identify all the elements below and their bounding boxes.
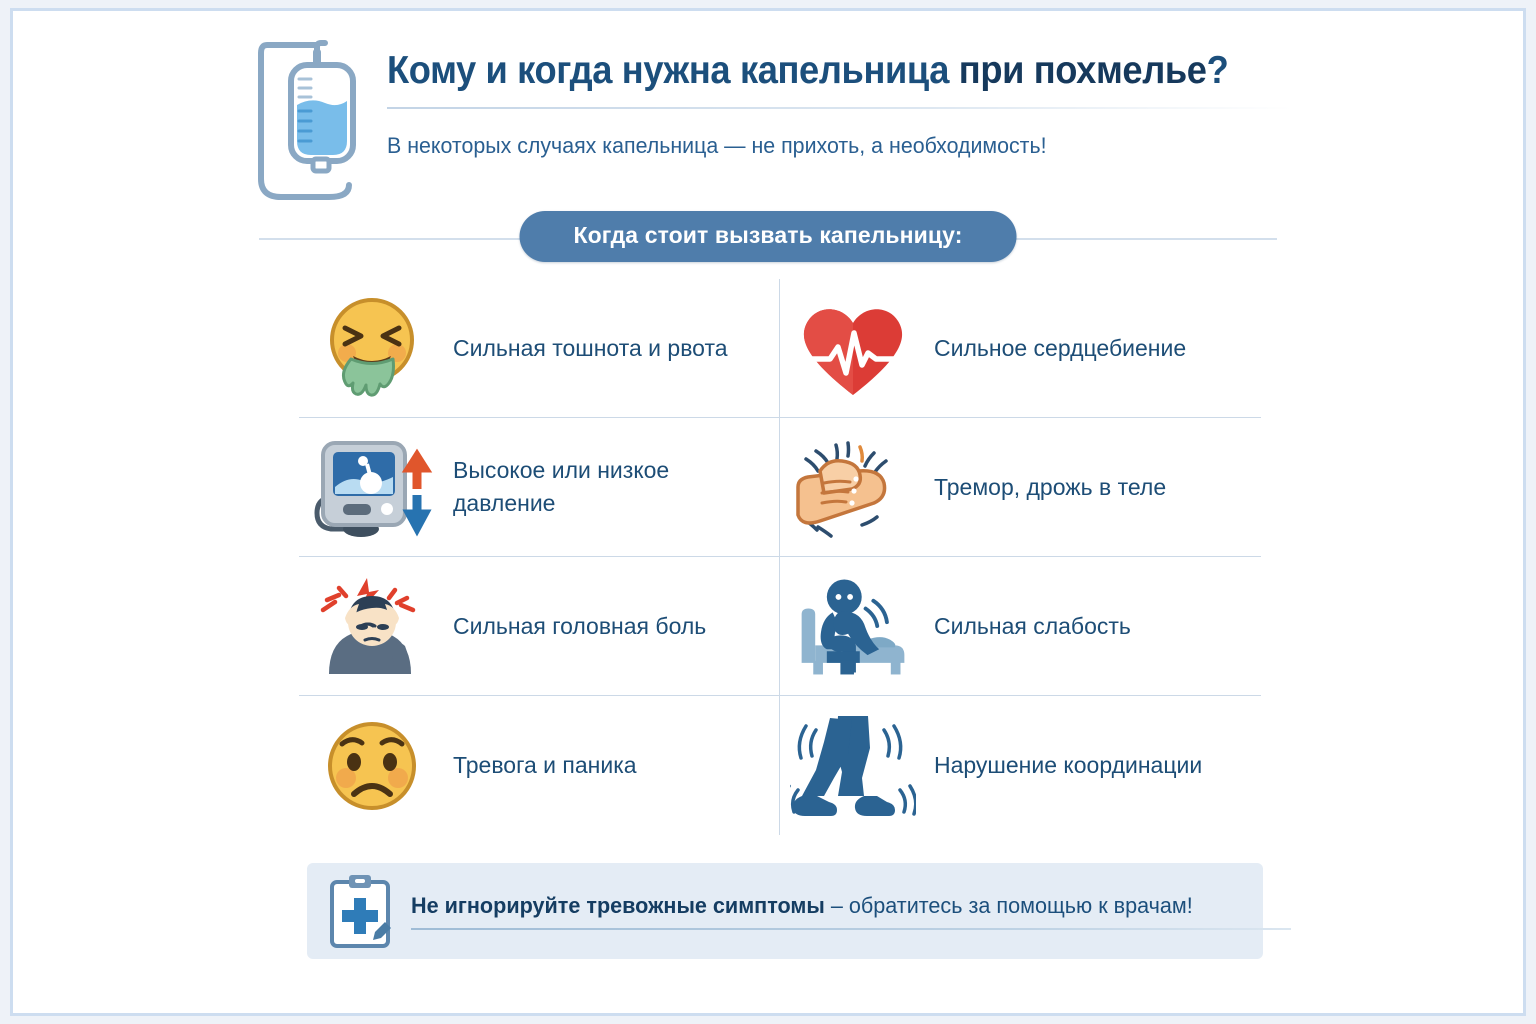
footer-text-block: Не игнорируйте тревожные симптомы – обра… [411, 893, 1291, 930]
symptom-label: Тревога и паника [453, 749, 637, 782]
page-title-part1: Кому и когда нужна капельница [387, 49, 949, 92]
footer-notice: Не игнорируйте тревожные симптомы – обра… [307, 863, 1263, 959]
symptom-cell-blood-pressure: Высокое или низкое давление [299, 418, 780, 557]
symptom-label: Сильная тошнота и рвота [453, 332, 728, 365]
header: Кому и когда нужна капельница при похмел… [13, 11, 1523, 207]
footer-message-rest: – обратитесь за помощью к врачам! [825, 893, 1193, 918]
medical-clipboard-icon [329, 874, 391, 948]
shaking-hands-icon [790, 431, 916, 543]
iv-drip-bag-icon [253, 39, 373, 207]
title-divider [387, 107, 1292, 109]
section-banner: Когда стоит вызвать капельницу: [13, 211, 1523, 267]
page-title: Кому и когда нужна капельница при похмел… [387, 49, 1233, 93]
symptom-label: Тремор, дрожь в теле [934, 471, 1166, 504]
symptom-cell-weakness: Сильная слабость [780, 557, 1261, 696]
weak-person-on-bed-icon [790, 570, 916, 682]
symptom-cell-nausea: Сильная тошнота и рвота [299, 279, 780, 418]
banner-label: Когда стоит вызвать капельницу: [520, 211, 1017, 262]
symptom-label: Высокое или низкое давление [453, 454, 753, 519]
symptom-label: Сильная головная боль [453, 610, 706, 643]
symptom-cell-coordination: Нарушение координации [780, 696, 1261, 835]
footer-divider [411, 928, 1291, 930]
symptom-cell-tremor: Тремор, дрожь в теле [780, 418, 1261, 557]
unsteady-legs-icon [790, 710, 916, 822]
blood-pressure-monitor-icon [309, 431, 435, 543]
symptom-grid: Сильная тошнота и рвота Сильное сердцеби… [299, 279, 1261, 835]
vomiting-face-icon [309, 292, 435, 404]
infographic-poster: Кому и когда нужна капельница при похмел… [10, 8, 1526, 1016]
footer-message-bold: Не игнорируйте тревожные симптомы [411, 893, 825, 918]
page-title-mark: ? [1207, 49, 1229, 92]
symptom-label: Сильная слабость [934, 610, 1131, 643]
worried-face-icon [309, 710, 435, 822]
page-subtitle: В некоторых случаях капельница — не прих… [387, 133, 1252, 159]
heart-pulse-icon [790, 292, 916, 404]
header-text: Кому и когда нужна капельница при похмел… [387, 49, 1297, 159]
footer-message: Не игнорируйте тревожные симптомы – обра… [411, 893, 1256, 919]
page-title-part2: при похмелье [959, 49, 1207, 92]
symptom-label: Нарушение координации [934, 749, 1202, 782]
symptom-cell-anxiety: Тревога и паника [299, 696, 780, 835]
headache-person-icon [309, 570, 435, 682]
symptom-cell-headache: Сильная головная боль [299, 557, 780, 696]
symptom-label: Сильное сердцебиение [934, 332, 1186, 365]
symptom-cell-palpitations: Сильное сердцебиение [780, 279, 1261, 418]
